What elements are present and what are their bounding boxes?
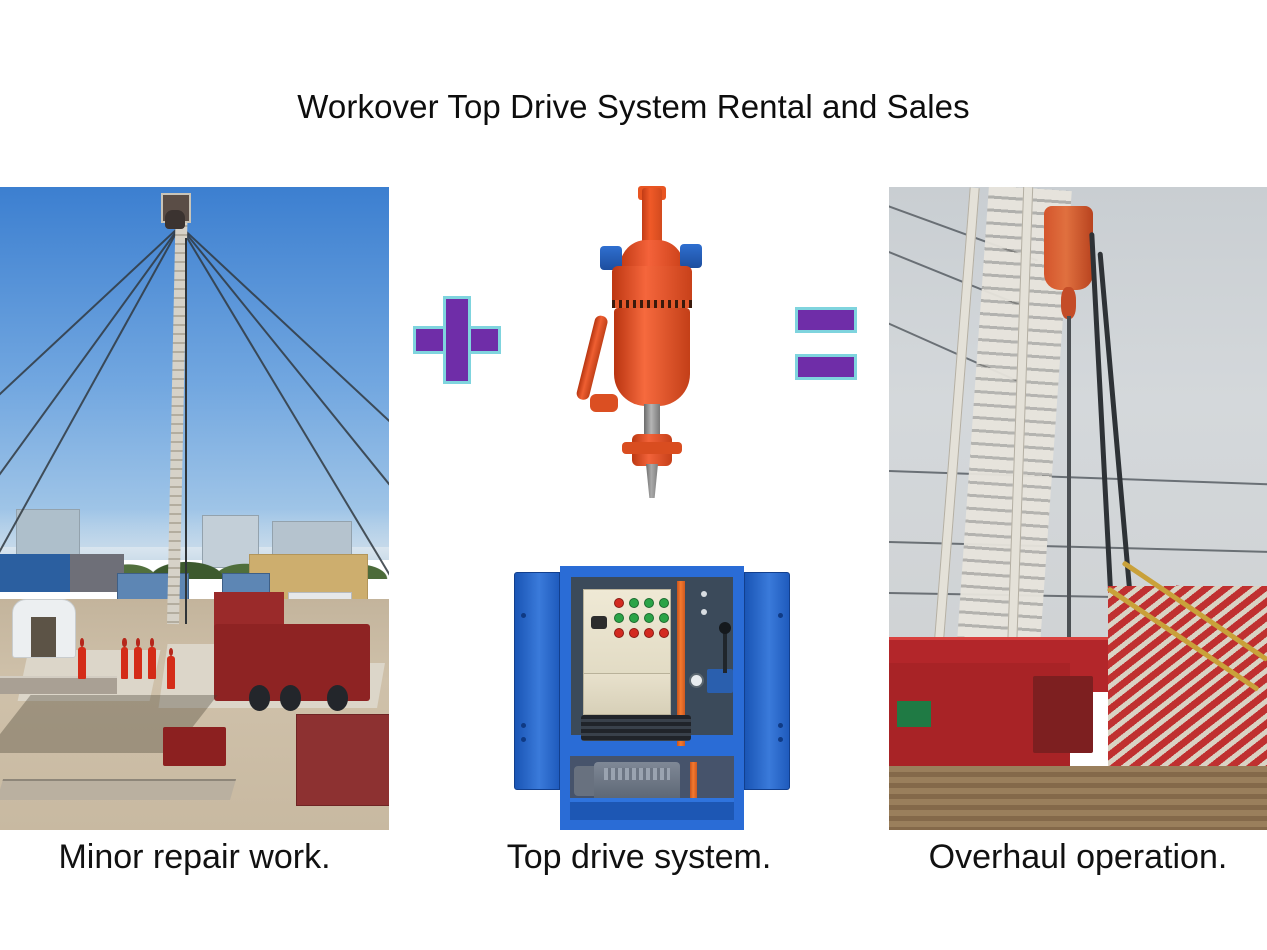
page-title: Workover Top Drive System Rental and Sal… — [0, 88, 1267, 126]
base-interior — [570, 756, 734, 820]
indicator-lamp-red — [629, 628, 639, 638]
dome-shelter — [12, 599, 76, 659]
pipe-rack — [0, 676, 117, 694]
equals-sign-icon — [795, 307, 857, 380]
indicator-lamp-green — [629, 613, 639, 623]
trench — [0, 779, 236, 800]
pressure-gauge — [689, 673, 704, 688]
equals-top-bar — [795, 307, 857, 333]
top-drive-saver-lug — [622, 442, 682, 454]
top-drive-unit-image — [592, 188, 712, 518]
indicator-lamp-green — [644, 598, 654, 608]
indicator-lamp-green — [644, 613, 654, 623]
hydraulic-motor-right — [680, 244, 702, 268]
wellhead-stack — [1033, 676, 1093, 753]
hinge-bolt — [778, 737, 783, 742]
top-drive-threaded-tip — [646, 464, 658, 498]
hinge-bolt — [521, 737, 526, 742]
panel-bolt — [701, 609, 707, 615]
panel-bolt — [701, 591, 707, 597]
skid-base — [570, 798, 734, 820]
top-drive-bolt-ring — [612, 300, 692, 308]
worker-figure — [121, 647, 129, 679]
caption-top-drive-system: Top drive system. — [389, 838, 889, 877]
valve-block — [707, 669, 733, 693]
equals-bottom-bar — [795, 354, 857, 380]
indicator-lamp-green — [614, 613, 624, 623]
indicator-lamp-red — [614, 598, 624, 608]
hinge-bolt — [778, 723, 783, 728]
truck-wheel — [327, 685, 348, 711]
panel-right-image — [889, 187, 1267, 830]
hinge-bolt — [521, 613, 526, 618]
photo-overhaul-operation — [889, 187, 1267, 830]
hinge-bolt — [778, 613, 783, 618]
plus-vertical-bar — [443, 296, 471, 384]
wooden-deck — [889, 766, 1267, 830]
indicator-lamp-red — [644, 628, 654, 638]
green-safety-sign — [897, 701, 931, 727]
cabinet-door-right — [744, 572, 790, 790]
top-drive-upper-stem — [642, 188, 662, 246]
cabinet-door-left — [514, 572, 560, 790]
hydraulic-pump-motor — [594, 762, 680, 802]
indicator-lamp-grid — [614, 598, 670, 639]
top-drive-saver-sub — [1061, 287, 1076, 319]
selector-knob — [591, 616, 607, 629]
lower-control-enclosure — [583, 673, 671, 715]
hydraulic-power-unit-image — [514, 566, 790, 830]
caption-overhaul-operation: Overhaul operation. — [889, 838, 1267, 877]
indicator-lamp-green — [629, 598, 639, 608]
worker-figure — [167, 656, 175, 688]
cabinet-base-frame — [560, 746, 744, 830]
drill-line — [185, 238, 187, 624]
indicator-lamp-green — [659, 613, 669, 623]
plus-sign-icon — [413, 296, 501, 384]
wellhead-assembly — [163, 727, 225, 766]
worker-figure — [134, 647, 142, 679]
panel-left-image — [0, 187, 389, 830]
crown-sheave — [165, 210, 184, 229]
cabinet-interior — [571, 577, 733, 735]
top-drive-arm-connector — [590, 394, 618, 412]
worker-figure — [78, 647, 86, 679]
top-drive-quill — [644, 404, 660, 438]
suspended-top-drive — [1044, 206, 1093, 290]
indicator-lamp-red — [614, 628, 624, 638]
caption-minor-repair-work: Minor repair work. — [0, 838, 389, 877]
top-drive-bell-housing — [614, 308, 690, 406]
indicator-lamp-green — [659, 598, 669, 608]
top-drive-mud-pipe-arm — [575, 314, 608, 401]
hinge-bolt — [521, 723, 526, 728]
photo-minor-repair-work — [0, 187, 389, 830]
manual-lever — [723, 629, 727, 673]
hose-bundle — [581, 715, 691, 741]
red-container — [296, 714, 389, 806]
indicator-lamp-red — [659, 628, 669, 638]
drill-pipe — [1067, 316, 1071, 650]
cabinet-upper-frame — [560, 566, 744, 746]
worker-figure — [148, 647, 156, 679]
